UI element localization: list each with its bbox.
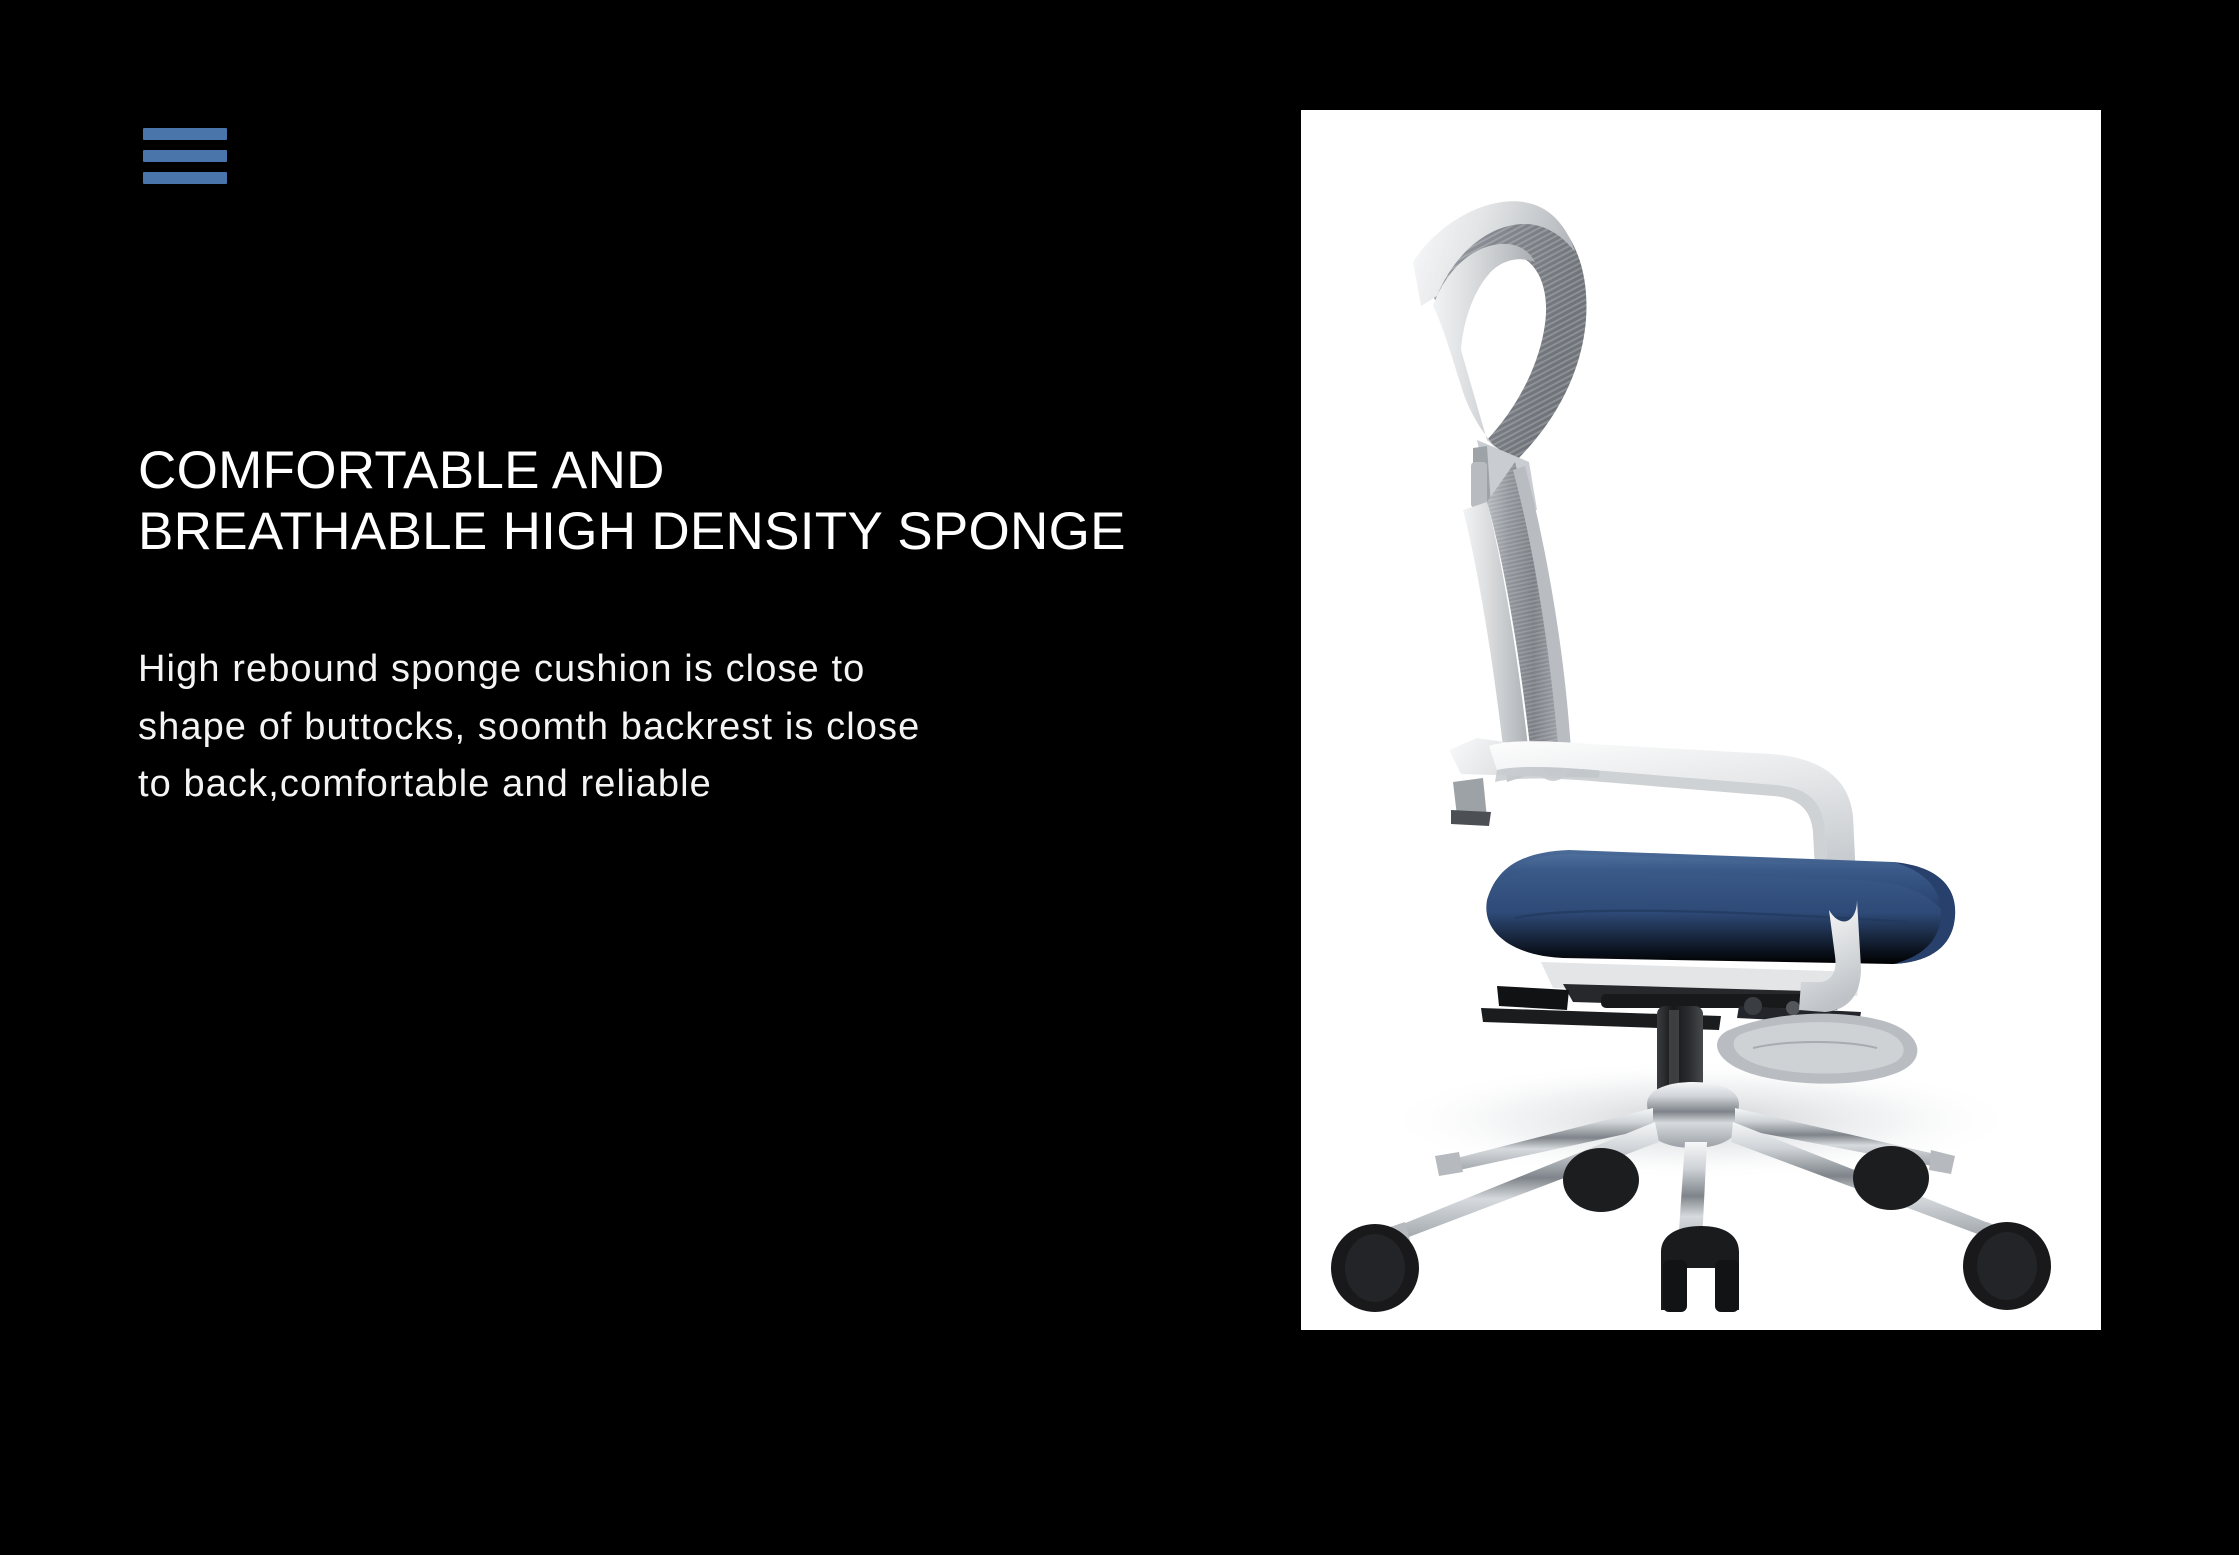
text-column: COMFORTABLE AND BREATHABLE HIGH DENSITY … [138, 440, 1238, 814]
chair-seat-cushion [1486, 850, 1955, 964]
hamburger-bar-top [143, 128, 227, 140]
hamburger-menu-icon[interactable] [143, 128, 227, 184]
office-chair-image [1301, 110, 2101, 1330]
hamburger-bar-middle [143, 150, 227, 162]
hamburger-bar-bottom [143, 172, 227, 184]
body-copy: High rebound sponge cushion is close to … [138, 563, 1238, 814]
headline: COMFORTABLE AND BREATHABLE HIGH DENSITY … [138, 440, 1238, 563]
product-image-panel [1301, 110, 2101, 1330]
slide-canvas: COMFORTABLE AND BREATHABLE HIGH DENSITY … [0, 0, 2239, 1555]
